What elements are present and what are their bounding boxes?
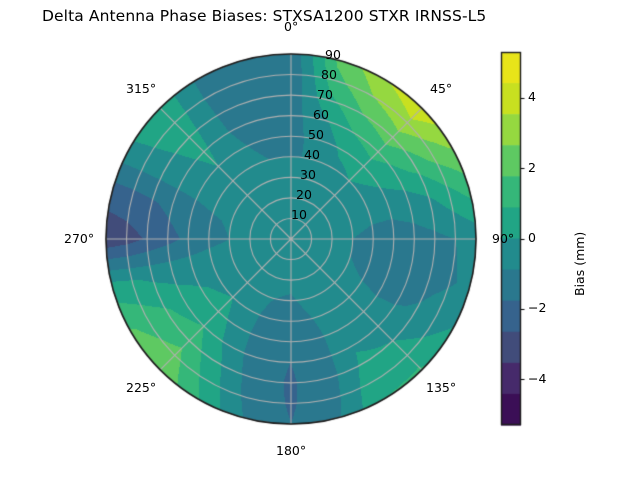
angular-tick-90: 90° [492,233,514,246]
page-title: Delta Antenna Phase Biases: STXSA1200 ST… [42,9,486,25]
radial-tick-30: 30 [300,169,316,182]
angular-tick-270: 270° [64,233,94,246]
radial-tick-70: 70 [317,89,333,102]
colorbar-tick-neg4: −4 [528,373,546,386]
radial-tick-40: 40 [304,149,320,162]
colorbar-tick-neg2: −2 [528,302,546,315]
angular-tick-315: 315° [126,83,156,96]
radial-tick-10: 10 [291,209,307,222]
radial-tick-50: 50 [308,129,324,142]
radial-tick-80: 80 [321,69,337,82]
angular-tick-225: 225° [126,382,156,395]
angular-tick-0: 0° [284,21,298,34]
radial-tick-20: 20 [296,189,312,202]
colorbar-tick-0: 0 [528,232,536,245]
radial-tick-90: 90 [325,49,341,62]
colorbar-axis-label: Bias (mm) [574,232,587,296]
angular-tick-135: 135° [426,382,456,395]
angular-tick-45: 45° [430,83,452,96]
polar-contour-plot [0,0,640,480]
radial-tick-60: 60 [313,109,329,122]
angular-tick-180: 180° [276,445,306,458]
colorbar-tick-2: 2 [528,162,536,175]
figure-canvas-container: Delta Antenna Phase Biases: STXSA1200 ST… [0,0,640,480]
colorbar-tick-4: 4 [528,91,536,104]
